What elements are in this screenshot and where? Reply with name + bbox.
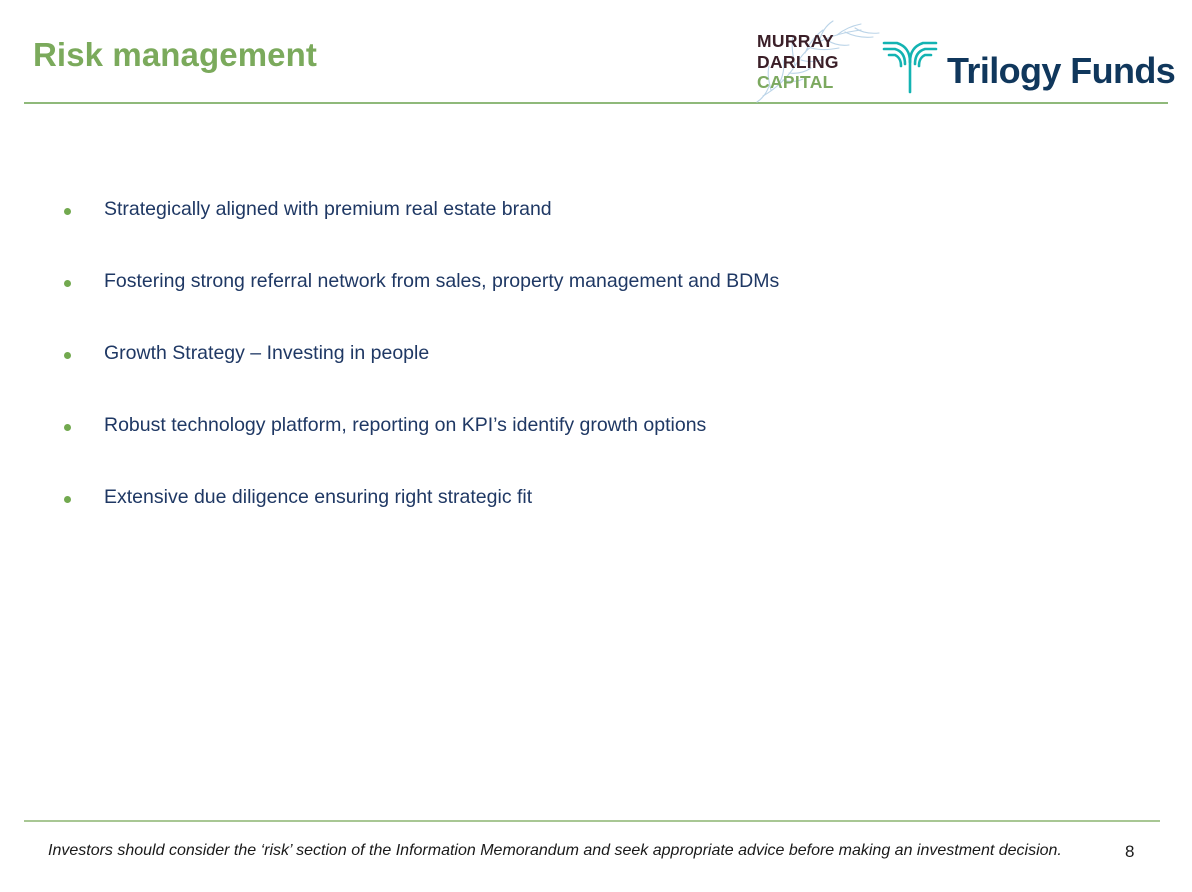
header-divider — [24, 102, 1168, 104]
list-item: Fostering strong referral network from s… — [60, 268, 1120, 340]
md-line-capital: CAPITAL — [757, 72, 839, 93]
bullet-text: Fostering strong referral network from s… — [104, 268, 779, 294]
bullet-list: Strategically aligned with premium real … — [60, 196, 1120, 556]
bullet-text: Growth Strategy – Investing in people — [104, 340, 429, 366]
bullet-dot-icon — [64, 280, 71, 287]
trilogy-funds-wordmark: Trilogy Funds — [947, 50, 1175, 92]
murray-darling-capital-logo: MURRAY DARLING CAPITAL — [757, 28, 875, 98]
list-item: Robust technology platform, reporting on… — [60, 412, 1120, 484]
bullet-dot-icon — [64, 208, 71, 215]
page-number: 8 — [1125, 842, 1134, 862]
md-line-darling: DARLING — [757, 52, 839, 73]
bullet-dot-icon — [64, 424, 71, 431]
bullet-text: Extensive due diligence ensuring right s… — [104, 484, 532, 510]
logo-group: MURRAY DARLING CAPITAL Trilogy Funds — [757, 26, 1169, 100]
bullet-text: Robust technology platform, reporting on… — [104, 412, 706, 438]
murray-darling-wordmark: MURRAY DARLING CAPITAL — [757, 31, 839, 93]
slide: Risk management — [0, 0, 1192, 892]
trilogy-tree-icon — [879, 32, 941, 96]
md-line-murray: MURRAY — [757, 31, 839, 52]
bullet-dot-icon — [64, 352, 71, 359]
bullet-dot-icon — [64, 496, 71, 503]
list-item: Strategically aligned with premium real … — [60, 196, 1120, 268]
bullet-text: Strategically aligned with premium real … — [104, 196, 552, 222]
footer-disclaimer: Investors should consider the ‘risk’ sec… — [48, 842, 1062, 860]
page-title: Risk management — [33, 36, 317, 74]
footer-divider — [24, 820, 1160, 822]
list-item: Extensive due diligence ensuring right s… — [60, 484, 1120, 556]
list-item: Growth Strategy – Investing in people — [60, 340, 1120, 412]
